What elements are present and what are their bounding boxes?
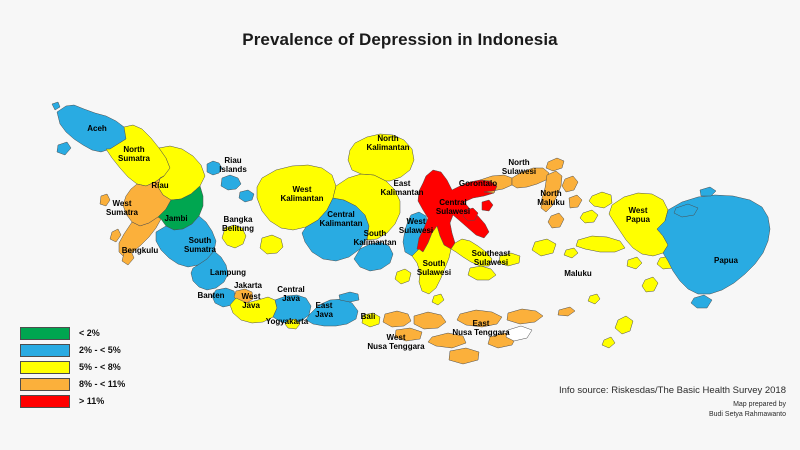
region-maluku-ambon[interactable]	[564, 248, 578, 258]
map-label-south-kalimantan-2: Kalimantan	[353, 238, 396, 247]
region-east-nusa-tenggara-sumba[interactable]	[449, 348, 479, 364]
credit-line-1: Map prepared by	[709, 400, 786, 410]
region-belitung[interactable]	[260, 235, 283, 254]
map-label-west-nusa-tenggara-1: West	[387, 333, 406, 342]
region-maluku-kai[interactable]	[627, 257, 642, 269]
region-papua[interactable]	[657, 195, 770, 294]
region-west-papua-b[interactable]	[589, 192, 612, 208]
map-label-central-sulawesi-1: Central	[439, 198, 467, 207]
region-north-maluku-c[interactable]	[548, 213, 564, 228]
map-label-bangka-belitung-1: Bangka	[224, 215, 253, 224]
region-maluku-buru[interactable]	[532, 239, 556, 256]
legend-label-2to5: 2% - < 5%	[79, 346, 121, 355]
legend-label-8to11: 8% - < 11%	[79, 380, 125, 389]
map-label-north-kalimantan-2: Kalimantan	[366, 143, 409, 152]
map-label-west-papua-1: West	[629, 206, 648, 215]
map-label-north-kalimantan-1: North	[377, 134, 398, 143]
map-label-east-kalimantan-2: Kalimantan	[380, 188, 423, 197]
map-label-papua: Papua	[714, 256, 739, 265]
region-selayar	[432, 294, 444, 305]
map-label-west-kalimantan-1: West	[293, 185, 312, 194]
legend-swatch-lt2	[20, 327, 70, 340]
map-label-riau-islands-2: Islands	[219, 165, 247, 174]
region-west-nusa-tenggara[interactable]	[383, 311, 411, 327]
legend-swatch-2to5	[20, 344, 70, 357]
map-label-south-sumatra-2: Sumatra	[184, 245, 217, 254]
island-timor-leste	[506, 326, 532, 341]
legend-label-gt11: > 11%	[79, 397, 104, 406]
map-label-north-maluku-1: North	[540, 189, 561, 198]
region-southeast-sulawesi-b[interactable]	[468, 266, 496, 280]
map-label-gorontalo: Gorontalo	[459, 179, 497, 188]
map-label-south-sulawesi-2: Sulawesi	[417, 268, 451, 277]
region-maluku-aru[interactable]	[642, 277, 658, 292]
legend-item[interactable]: > 11%	[20, 394, 125, 409]
map-label-southeast-sulawesi-1: Southeast	[472, 249, 511, 258]
region-north-maluku-b[interactable]	[562, 176, 578, 192]
island-simeulue	[57, 142, 71, 155]
region-madura	[339, 292, 359, 302]
legend: < 2% 2% - < 5% 5% - < 8% 8% - < 11% > 11…	[20, 326, 125, 411]
map-label-east-java-2: Java	[315, 310, 333, 319]
map-label-south-sulawesi-1: South	[423, 259, 446, 268]
legend-swatch-8to11	[20, 378, 70, 391]
map-label-bengkulu: Bengkulu	[122, 246, 159, 255]
credit-line-2: Budi Setya Rahmawanto	[709, 410, 786, 420]
info-source: Info source: Riskesdas/The Basic Health …	[559, 385, 786, 396]
map-label-central-sulawesi-2: Sulawesi	[436, 207, 470, 216]
region-south-sulawesi-b[interactable]	[395, 269, 411, 284]
region-maluku-small	[588, 294, 600, 304]
map-label-aceh: Aceh	[87, 124, 107, 133]
map-label-north-sulawesi-2: Sulawesi	[502, 167, 536, 176]
map-label-west-sulawesi-2: Sulawesi	[399, 226, 433, 235]
island-mentawai	[110, 229, 121, 242]
island-small-nt	[558, 307, 575, 316]
map-label-west-java-1: West	[242, 292, 261, 301]
map-label-bangka-belitung-2: Belitung	[222, 224, 254, 233]
map-label-east-java-1: East	[316, 301, 333, 310]
map-label-maluku: Maluku	[564, 269, 592, 278]
map-label-south-kalimantan-1: South	[364, 229, 387, 238]
map-label-west-sulawesi-1: West	[407, 217, 426, 226]
map-label-north-sumatra-2: Sumatra	[118, 154, 151, 163]
map-label-yogyakarta: Yogyakarta	[266, 317, 309, 326]
legend-swatch-gt11	[20, 395, 70, 408]
region-west-papua-c[interactable]	[580, 210, 598, 223]
map-credit: Map prepared by Budi Setya Rahmawanto	[709, 400, 786, 420]
legend-item[interactable]: 8% - < 11%	[20, 377, 125, 392]
map-label-jakarta: Jakarta	[234, 281, 263, 290]
region-north-sulawesi-b[interactable]	[546, 158, 564, 171]
map-label-west-sumatra-1: West	[113, 199, 132, 208]
map-label-riau-islands-1: Riau	[224, 156, 241, 165]
legend-label-5to8: 5% - < 8%	[79, 363, 121, 372]
map-label-north-maluku-2: Maluku	[537, 198, 565, 207]
map-label-west-kalimantan-2: Kalimantan	[280, 194, 323, 203]
region-maluku-small-b	[602, 337, 615, 348]
map-label-west-sumatra-2: Sumatra	[106, 208, 139, 217]
island-biak	[700, 187, 716, 196]
legend-item[interactable]: 5% - < 8%	[20, 360, 125, 375]
legend-swatch-5to8	[20, 361, 70, 374]
map-label-east-nusa-tenggara-1: East	[473, 319, 490, 328]
region-central-sulawesi-c[interactable]	[482, 200, 493, 211]
map-label-central-kalimantan-1: Central	[327, 210, 355, 219]
map-label-west-java-2: Java	[242, 301, 260, 310]
map-label-west-nusa-tenggara-2: Nusa Tenggara	[367, 342, 425, 351]
map-label-central-java-1: Central	[277, 285, 305, 294]
legend-item[interactable]: 2% - < 5%	[20, 343, 125, 358]
region-north-maluku-d[interactable]	[569, 195, 582, 208]
region-east-nusa-tenggara-b[interactable]	[507, 309, 543, 324]
region-maluku-seram[interactable]	[576, 236, 625, 252]
island-nias	[100, 194, 110, 206]
region-riau-islands-b[interactable]	[221, 175, 241, 190]
map-label-jambi: Jambi	[164, 214, 187, 223]
island-weh	[52, 102, 60, 110]
map-label-north-sulawesi-1: North	[508, 158, 529, 167]
map-label-central-kalimantan-2: Kalimantan	[319, 219, 362, 228]
map-label-lampung: Lampung	[210, 268, 246, 277]
region-riau-islands-c[interactable]	[239, 190, 254, 202]
map-label-riau: Riau	[151, 181, 168, 190]
map-label-east-nusa-tenggara-2: Nusa Tenggara	[452, 328, 510, 337]
map-label-south-sumatra-1: South	[189, 236, 212, 245]
map-label-southeast-sulawesi-2: Sulawesi	[474, 258, 508, 267]
map-label-central-java-2: Java	[282, 294, 300, 303]
map-label-north-sumatra-1: North	[123, 145, 144, 154]
region-papua-c[interactable]	[691, 295, 712, 308]
map-label-west-papua-2: Papua	[626, 215, 651, 224]
map-label-east-kalimantan-1: East	[394, 179, 411, 188]
map-label-banten: Banten	[197, 291, 224, 300]
map-label-bali: Bali	[361, 312, 376, 321]
legend-label-lt2: < 2%	[79, 329, 100, 338]
region-west-nusa-tenggara-b[interactable]	[414, 312, 446, 329]
legend-item[interactable]: < 2%	[20, 326, 125, 341]
region-maluku-tanimbar[interactable]	[615, 316, 633, 334]
